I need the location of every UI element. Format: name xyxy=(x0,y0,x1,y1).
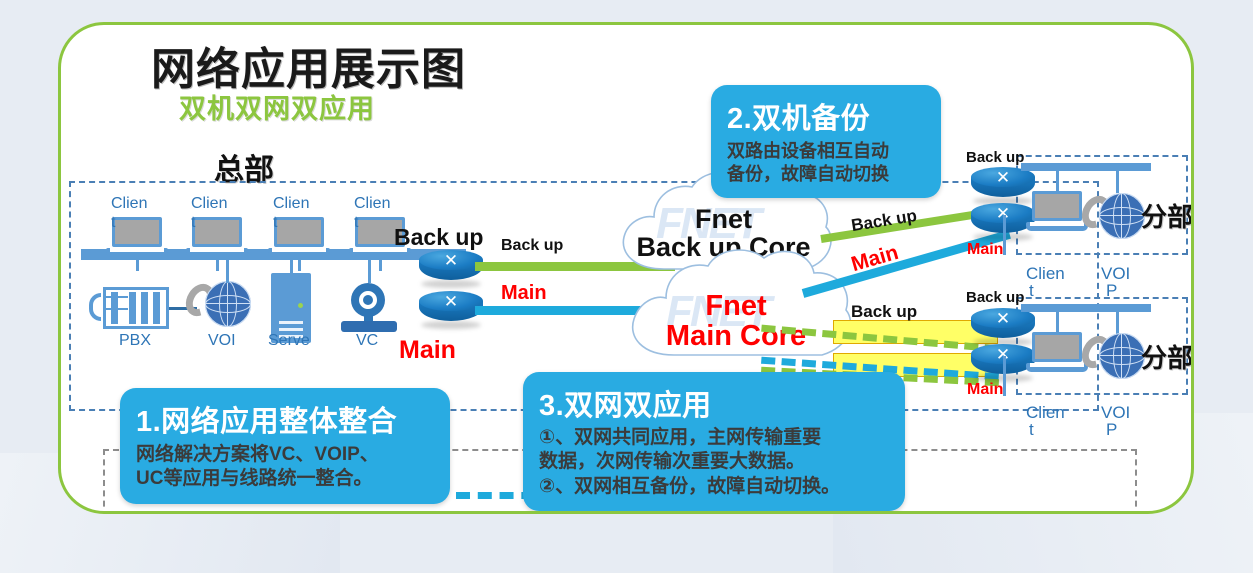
page-subtitle: 双机双网双应用 xyxy=(179,87,375,126)
branch1-client-stem xyxy=(1056,171,1059,191)
branch3-voip-globe-icon xyxy=(1099,333,1145,379)
callout-1-title: 1.网络应用整体整合 xyxy=(136,398,434,440)
client-stem xyxy=(136,257,139,271)
callout-2-body-line2: 备份，故障自动切换 xyxy=(727,164,889,184)
hq-router-backup: ✕ xyxy=(419,250,483,290)
client-label-wrap: t xyxy=(273,214,277,232)
client-stem xyxy=(379,257,382,271)
branch1-router-backup-label: Back up xyxy=(966,149,1024,166)
router-cross-icon: ✕ xyxy=(433,253,469,268)
server-label: Serve xyxy=(268,332,310,350)
client-label-wrap: t xyxy=(111,214,115,232)
branch1-router-main-label: Main xyxy=(967,241,1003,259)
hq-router-main-label: Main xyxy=(399,336,456,365)
router-cross-icon: ✕ xyxy=(433,294,469,309)
callout-2-body-line1: 双路由设备相互自动 xyxy=(727,141,889,161)
branch1-bus xyxy=(1021,163,1151,171)
branch3-name: 分部3 xyxy=(1141,338,1194,375)
client-label-wrap: t xyxy=(354,214,358,232)
callout-3[interactable]: 3.双网双应用 ①、双网共同应用，主网传输重要 数据，次网传输次重要大数据。 ②… xyxy=(523,372,905,511)
hq-backup-link-label: Back up xyxy=(501,237,563,255)
branch3-router-backup-label: Back up xyxy=(966,289,1024,306)
branch1-voip-globe-icon xyxy=(1099,193,1145,239)
voip-stem xyxy=(226,259,229,283)
voip-label: VOI xyxy=(208,332,236,350)
main-core-name-line2: Main Core xyxy=(666,320,806,352)
pbx-icon xyxy=(89,287,169,329)
callout-1-body-line1: 网络解决方案将VC、VOIP、 xyxy=(136,444,379,465)
callout-1[interactable]: 1.网络应用整体整合 网络解决方案将VC、VOIP、 UC等应用与线路统一整合。 xyxy=(120,388,450,504)
branch1-voip-stem xyxy=(1116,171,1119,193)
branch3-client-stem xyxy=(1056,312,1059,332)
hq-router-main: ✕ xyxy=(419,291,483,331)
branch3-client-label-wrap: t xyxy=(1029,420,1034,440)
branch1-router-stem xyxy=(1003,215,1006,255)
client-label: Clien xyxy=(111,195,147,213)
callout-3-title: 3.双网双应用 xyxy=(539,382,889,424)
callout-2[interactable]: 2.双机备份 双路由设备相互自动 备份，故障自动切换 xyxy=(711,85,941,198)
main-core-name-line1: Fnet xyxy=(705,290,766,322)
vc-camera-icon xyxy=(341,283,397,335)
router-cross-icon: ✕ xyxy=(985,170,1021,185)
client-label-wrap: t xyxy=(191,214,195,232)
client-label: Clien xyxy=(273,195,309,213)
voip-globe-icon xyxy=(205,281,251,327)
client-label: Clien xyxy=(191,195,227,213)
hq-router-backup-label: Back up xyxy=(394,224,483,251)
client-stem xyxy=(216,257,219,271)
callout-3-body-line2: 数据，次网传输次重要大数据。 xyxy=(539,451,805,472)
branch3-bus xyxy=(1021,304,1151,312)
branch3-client-laptop xyxy=(1026,332,1088,378)
branch3-voip-label-wrap: P xyxy=(1106,420,1117,440)
pbx-label: PBX xyxy=(119,332,151,350)
branch3-router-stem xyxy=(1003,356,1006,396)
vc-stem xyxy=(368,259,371,283)
branch1-client-laptop xyxy=(1026,191,1088,237)
callout-3-body-line3: ②、双网相互备份，故障自动切换。 xyxy=(539,476,840,497)
branch3-voip-stem xyxy=(1116,312,1119,334)
branch1-client-label-wrap: t xyxy=(1029,281,1034,301)
callout-3-body-line1: ①、双网共同应用，主网传输重要 xyxy=(539,427,821,448)
router-cross-icon: ✕ xyxy=(985,311,1021,326)
branch3-router-main-label: Main xyxy=(967,381,1003,399)
hq-main-link-label: Main xyxy=(501,282,547,305)
backup-core-name-line1: Fnet xyxy=(695,204,752,234)
branch1-voip-label-wrap: P xyxy=(1106,281,1117,301)
branch1-name: 分部1 xyxy=(1141,197,1194,234)
vc-label: VC xyxy=(356,332,378,350)
server-stem xyxy=(290,259,293,273)
callout-2-title: 2.双机备份 xyxy=(727,95,925,137)
main-core-cloud: FNET Fnet Main Core xyxy=(616,243,856,373)
callout-1-body-line2: UC等应用与线路统一整合。 xyxy=(136,468,372,489)
branch3-backup-link-label: Back up xyxy=(851,302,917,322)
client-label: Clien xyxy=(354,195,390,213)
diagram-panel: 网络应用展示图 双机双网双应用 总部 Clien t Clien t Clien… xyxy=(58,22,1194,514)
client-stem xyxy=(298,257,301,271)
